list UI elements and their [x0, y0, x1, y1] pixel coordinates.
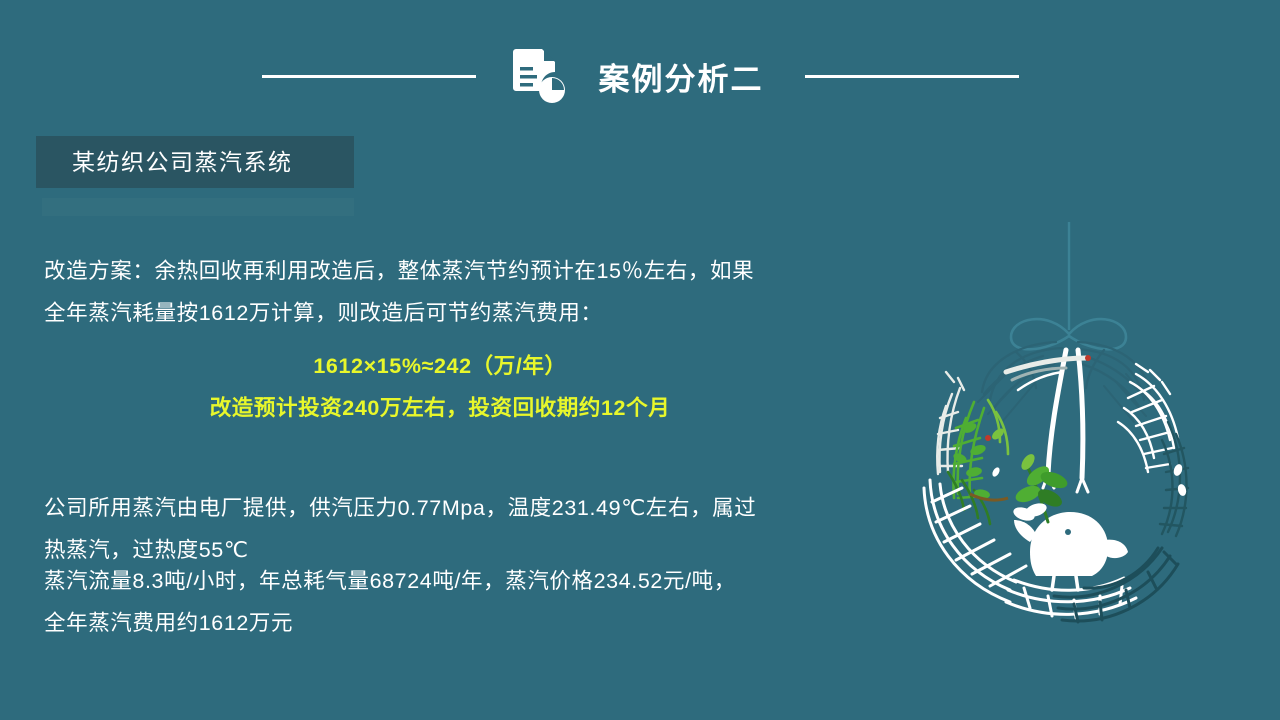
green-foliage-left [948, 400, 1008, 524]
section-badge: 某纺织公司蒸汽系统 [36, 136, 354, 188]
page-title: 案例分析二 [599, 54, 764, 99]
plan-paragraph-line-1: 改造方案：余热回收再利用改造后，整体蒸汽节约预计在15％左右，如果 [44, 250, 754, 292]
feather-accent-icon [1006, 355, 1091, 390]
flow-paragraph: 蒸汽流量8.3吨/小时，年总耗气量68724吨/年，蒸汽价格234.52元/吨，… [44, 560, 736, 644]
scatter-accents [991, 463, 1188, 497]
bow-icon [1011, 319, 1126, 349]
flow-paragraph-line-2: 全年蒸汽费用约1612万元 [44, 602, 736, 644]
document-chart-icon [511, 47, 565, 105]
plan-paragraph: 改造方案：余热回收再利用改造后，整体蒸汽节约预计在15％左右，如果 全年蒸汽耗量… [44, 250, 754, 334]
slide-canvas: 案例分析二 某纺织公司蒸汽系统 改造方案：余热回收再利用改造后，整体蒸汽节约预计… [0, 0, 1280, 720]
berry-icon [985, 435, 991, 441]
twigs-right-upper [1118, 364, 1178, 472]
supply-paragraph-line-1: 公司所用蒸汽由电厂提供，供汽压力0.77Mpa，温度231.49℃左右，属过 [44, 487, 756, 529]
bird-icon [1014, 512, 1128, 590]
flow-paragraph-line-1: 蒸汽流量8.3吨/小时，年总耗气量68724吨/年，蒸汽价格234.52元/吨， [44, 560, 736, 602]
header-rule-right [805, 75, 1019, 78]
twig-branch-brown [970, 494, 1008, 500]
highlight-line-2: 改造预计投资240万左右，投资回收期约12个月 [0, 387, 880, 429]
nest-base-dark [1054, 548, 1178, 622]
green-foliage-left-leaves [952, 421, 1006, 500]
highlight-line-1: 1612×15%≈242（万/年） [0, 345, 880, 387]
twigs-left-upper [937, 372, 964, 474]
section-badge-group: 某纺织公司蒸汽系统 [36, 136, 354, 216]
nest-base-white [924, 480, 1136, 618]
sprig-icon [1012, 452, 1070, 523]
slide-header: 案例分析二 [0, 44, 1280, 108]
wreath-illustration [878, 222, 1228, 632]
garland-back-upper [978, 342, 1154, 422]
plan-paragraph-line-2: 全年蒸汽耗量按1612万计算，则改造后可节约蒸汽费用： [44, 292, 754, 334]
header-rule-left [262, 75, 476, 78]
supply-paragraph: 公司所用蒸汽由电厂提供，供汽压力0.77Mpa，温度231.49℃左右，属过 热… [44, 487, 756, 571]
ribbon-tails-icon [1048, 350, 1083, 478]
section-underbar [42, 198, 354, 216]
highlight-calculation: 1612×15%≈242（万/年） 改造预计投资240万左右，投资回收期约12个… [0, 345, 880, 429]
garland-back-right [1160, 422, 1188, 536]
ribbon-tail-forks [1043, 474, 1088, 492]
